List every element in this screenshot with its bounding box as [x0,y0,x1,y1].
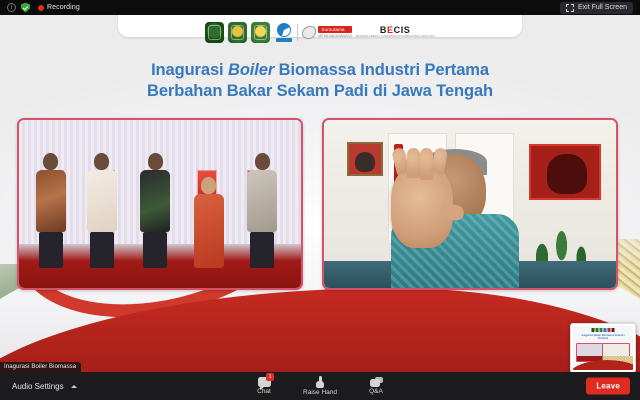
logo-emblem-kabupaten-3 [251,22,270,43]
top-bar-right-group: Exit Full Screen [560,2,640,14]
logo-emblem-kabupaten-2 [228,22,247,43]
toolbar-center-group: 1 Chat Raise Hand Q&A [247,372,393,400]
leave-button[interactable]: Leave [586,378,630,395]
presentation-slide: Sumutama MITRA ANDA BANGSA BECIS BIOMASS… [0,15,640,372]
logo-sumutama: Sumutama MITRA ANDA BANGSA [302,26,351,39]
slide-logo-row: Sumutama MITRA ANDA BANGSA BECIS BIOMASS… [0,20,640,44]
pip-tile-left [576,343,603,362]
self-view-thumbnail[interactable]: Inagurasi Boiler Biomassa Industri Perta… [570,323,636,372]
qa-bubbles-icon [370,377,383,387]
speaker-scene [324,120,616,288]
pip-slide-title: Inagurasi Boiler Biomassa Industri Perta… [577,334,629,341]
logo-esdm-circle [274,22,293,43]
exit-full-screen-button[interactable]: Exit Full Screen [560,2,633,14]
window-top-bar: i Recording Exit Full Screen [0,0,640,15]
video-tile-speaker[interactable] [322,118,618,290]
logo-becis-tagline: BIOMASS ENERGY CONVERSION IN INDUSTRIAL … [356,35,435,39]
top-bar-left-group: i Recording [0,3,80,13]
logo-becis: BECIS BIOMASS ENERGY CONVERSION IN INDUS… [356,25,435,39]
pip-logo-row [592,328,615,332]
recording-label: Recording [47,4,80,11]
recording-dot-icon [38,5,44,11]
raise-hand-button-label: Raise Hand [303,389,337,396]
caret-up-icon[interactable] [71,385,77,388]
contract-arrows-icon [566,4,574,12]
wall-portrait-icon [347,142,383,176]
logo-emblem-kabupaten-1 [205,22,224,43]
logo-sumutama-subtitle: MITRA ANDA BANGSA [318,34,351,39]
chat-button[interactable]: 1 Chat [247,377,281,395]
swan-icon [302,26,316,39]
chat-unread-badge: 1 [266,373,274,381]
qa-button[interactable]: Q&A [359,377,393,395]
qa-button-label: Q&A [369,388,383,395]
shared-screen-stage[interactable]: Sumutama MITRA ANDA BANGSA BECIS BIOMASS… [0,15,640,372]
video-tile-ceremony[interactable] [17,118,303,290]
audio-settings-button[interactable]: Audio Settings [12,372,77,400]
exit-full-screen-label: Exit Full Screen [578,4,627,11]
slide-title-line-2: Berbahan Bakar Sekam Padi di Jawa Tengah [0,81,640,102]
slide-title: Inagurasi Boiler Biomassa Industri Perta… [0,60,640,102]
info-icon[interactable]: i [7,3,16,12]
wall-poster [529,144,601,200]
audio-settings-label: Audio Settings [12,382,64,391]
shared-screen-name-label: Inagurasi Boiler Biomassa [0,362,81,372]
slide-title-line-1: Inagurasi Boiler Biomassa Industri Perta… [0,60,640,81]
meeting-toolbar: Audio Settings 1 Chat Raise Hand Q&A [0,372,640,400]
waving-hand [391,164,453,248]
raise-hand-button[interactable]: Raise Hand [303,376,337,396]
logo-becis-word: BECIS [380,25,411,35]
raised-hand-icon [315,376,325,388]
ceremony-scene [19,120,301,288]
recording-indicator[interactable]: Recording [38,4,80,11]
logo-sumutama-brand: Sumutama [318,26,351,33]
green-shield-icon[interactable] [21,3,30,13]
logo-divider [297,24,298,41]
zoom-webinar-window: i Recording Exit Full Screen [0,0,640,400]
